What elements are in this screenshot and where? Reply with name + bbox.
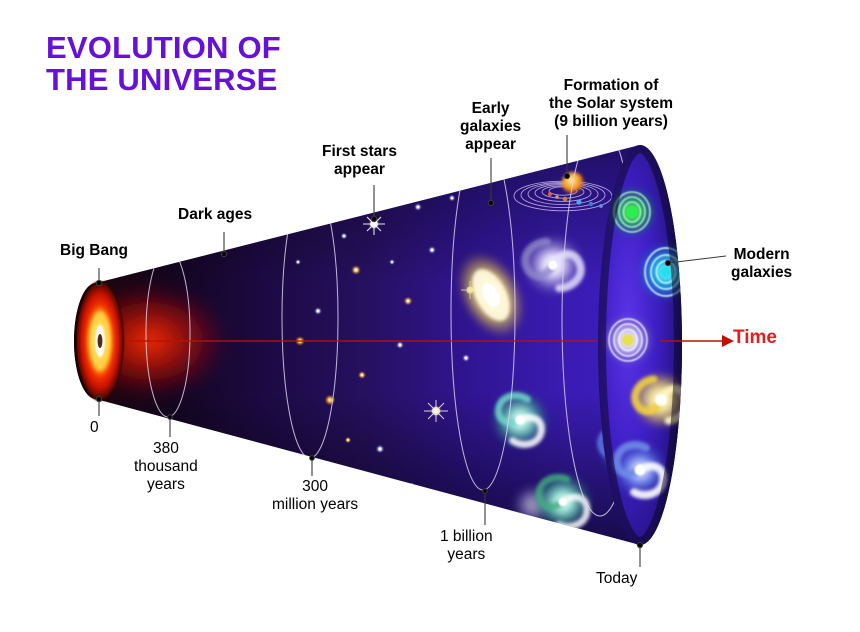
galaxy-modern-pale (602, 314, 654, 366)
label-solar-system: Formation of the Solar system (9 billion… (549, 77, 673, 131)
label-first-stars: First stars appear (322, 143, 397, 179)
timeline-marker-zero: 0 (90, 419, 99, 437)
present-day-disc (598, 145, 698, 545)
label-big-bang: Big Bang (60, 242, 128, 260)
label-early-galaxies: Early galaxies appear (460, 100, 521, 154)
timeline-marker-380k: 380 thousand years (134, 440, 198, 494)
timeline-marker-1b: 1 billion years (440, 528, 493, 564)
page-title: EVOLUTION OFTHE UNIVERSE (46, 32, 281, 96)
label-dark-ages: Dark ages (178, 206, 252, 224)
title-line-1: EVOLUTION OF (46, 30, 281, 65)
label-time-axis: Time (733, 327, 777, 349)
label-modern-galaxies: Modern galaxies (731, 246, 792, 282)
diagram-canvas: EVOLUTION OFTHE UNIVERSE Big Bang Dark a… (0, 0, 860, 632)
big-bang-burst (74, 281, 124, 401)
timeline-marker-today: Today (596, 570, 637, 588)
title-line-2: THE UNIVERSE (46, 62, 278, 97)
galaxy-modern-cyan (636, 242, 696, 302)
timeline-marker-300m: 300 million years (272, 478, 358, 514)
